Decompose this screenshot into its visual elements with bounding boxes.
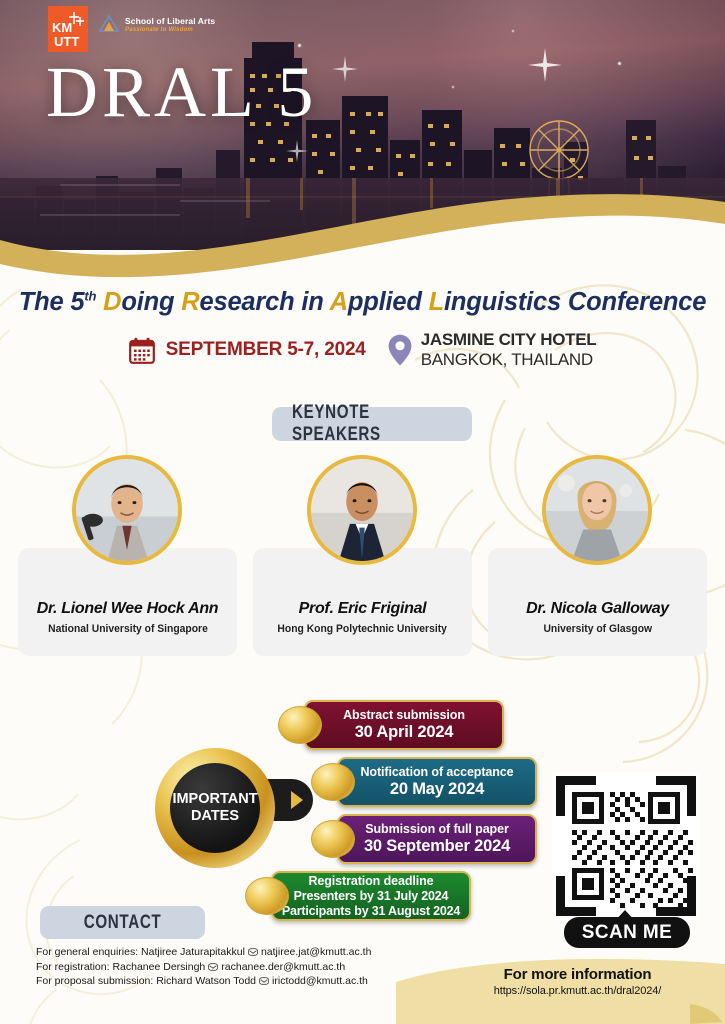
- speaker-affiliation: Hong Kong Polytechnic University: [278, 623, 447, 635]
- title-ordinal: th: [84, 289, 96, 304]
- sola-name: School of Liberal Arts: [125, 16, 215, 26]
- qr-code-block[interactable]: SCAN ME: [552, 772, 702, 920]
- sparkle: [298, 44, 301, 47]
- contact-item: For general enquiries: Natjiree Jaturapi…: [36, 945, 371, 960]
- event-acronym-title: DRAL 5: [46, 56, 317, 128]
- svg-text:KM: KM: [52, 20, 72, 35]
- contact-email[interactable]: natjiree.jat@kmutt.ac.th: [261, 945, 371, 960]
- sparkle: [452, 86, 454, 88]
- email-icon: [259, 977, 269, 985]
- speaker-name: Prof. Eric Friginal: [299, 600, 427, 618]
- svg-text:UTT: UTT: [54, 34, 79, 49]
- contact-email[interactable]: rachanee.der@kmutt.ac.th: [221, 960, 345, 975]
- date-item-label: Notification of acceptance: [361, 765, 514, 779]
- contact-role: For proposal submission: Richard Watson …: [36, 974, 256, 989]
- logo-row: KM UTT School of Liberal Arts Passionate…: [48, 6, 215, 52]
- speaker-photo-0: [76, 459, 178, 561]
- important-date-item: Submission of full paper 30 September 20…: [311, 814, 537, 864]
- title-a: A: [330, 288, 348, 316]
- contact-email[interactable]: irictodd@kmutt.ac.th: [272, 974, 368, 989]
- contact-role: For general enquiries: Natjiree Jaturapi…: [36, 945, 245, 960]
- important-date-item: Registration deadline Presenters by 31 J…: [245, 871, 471, 921]
- contact-item: For registration: Rachanee Dersingh rach…: [36, 960, 371, 975]
- title-d-rest: oing: [121, 288, 174, 316]
- date-item-gold-cap: [311, 763, 355, 801]
- date-item-value: 30 September 2024: [364, 837, 510, 856]
- speaker-portrait-2: [542, 455, 652, 565]
- conference-title: The 5th Doing Research in Applied Lingui…: [0, 288, 725, 317]
- event-venue-block: JASMINE CITY HOTEL BANGKOK, THAILAND: [388, 330, 597, 370]
- arrow-right-icon: [291, 791, 303, 809]
- title-a-rest: pplied: [348, 288, 422, 316]
- event-meta: SEPTEMBER 5-7, 2024 JASMINE CITY HOTEL B…: [0, 330, 725, 370]
- date-item-label: Registration deadline: [308, 874, 433, 888]
- title-l: L: [429, 288, 444, 316]
- kmutt-logo: KM UTT: [48, 6, 88, 52]
- speaker-name: Dr. Lionel Wee Hock Ann: [37, 600, 219, 618]
- important-date-item: Notification of acceptance 20 May 2024: [311, 757, 537, 807]
- website-url[interactable]: https://sola.pr.kmutt.ac.th/dral2024/: [430, 985, 725, 997]
- scan-me-label: SCAN ME: [582, 922, 672, 944]
- keynote-speakers-label: KEYNOTE SPEAKERS: [292, 402, 452, 446]
- important-dates-badge: IMPORTANT DATES: [155, 748, 275, 868]
- email-icon: [248, 948, 258, 956]
- venue-name: JASMINE CITY HOTEL: [421, 330, 597, 350]
- speaker-portrait-1: [307, 455, 417, 565]
- title-suffix: Conference: [568, 288, 706, 316]
- sola-triangle-icon: [98, 13, 120, 35]
- venue-city: BANGKOK, THAILAND: [421, 350, 597, 370]
- date-item-gold-cap: [311, 820, 355, 858]
- speaker-affiliation: National University of Singapore: [48, 623, 208, 635]
- sola-logo: School of Liberal Arts Passionate to Wis…: [98, 13, 215, 35]
- important-date-item: Abstract submission 30 April 2024: [278, 700, 504, 750]
- qr-code-image[interactable]: [552, 772, 700, 920]
- speaker-name: Dr. Nicola Galloway: [526, 600, 669, 618]
- email-icon: [208, 963, 218, 971]
- scan-me-badge: SCAN ME: [564, 917, 690, 948]
- sparkle: [512, 30, 514, 32]
- speaker-photo-1: [311, 459, 413, 561]
- conference-poster: KM UTT School of Liberal Arts Passionate…: [0, 0, 725, 1024]
- important-dates-label-line1: IMPORTANT: [172, 791, 257, 808]
- sparkle: [618, 62, 621, 65]
- contact-item: For proposal submission: Richard Watson …: [36, 974, 371, 989]
- qr-code-icon[interactable]: [552, 772, 700, 920]
- contact-list: For general enquiries: Natjiree Jaturapi…: [36, 945, 371, 989]
- location-pin-icon: [388, 334, 412, 366]
- date-item-value: 20 May 2024: [390, 780, 484, 799]
- date-item-label: Abstract submission: [343, 708, 465, 722]
- date-item-label: Submission of full paper: [365, 822, 508, 836]
- footer-info: For more information https://sola.pr.kmu…: [430, 966, 725, 997]
- title-l-rest: inguistics: [444, 288, 561, 316]
- speaker-photo-2: [546, 459, 648, 561]
- important-dates-label-line2: DATES: [191, 808, 239, 825]
- speaker-affiliation: University of Glasgow: [543, 623, 652, 635]
- date-item-gold-cap: [245, 877, 289, 915]
- date-item-value: Presenters by 31 July 2024: [282, 889, 460, 904]
- date-item-gold-cap: [278, 706, 322, 744]
- contact-header: CONTACT: [40, 906, 205, 939]
- event-date-block: SEPTEMBER 5-7, 2024: [129, 337, 366, 364]
- date-item-value: 30 April 2024: [355, 723, 454, 742]
- sola-tagline: Passionate to Wisdom: [125, 27, 215, 33]
- contact-label: CONTACT: [84, 912, 162, 934]
- keynote-speakers-header: KEYNOTE SPEAKERS: [272, 407, 472, 441]
- speaker-portrait-0: [72, 455, 182, 565]
- title-r: R: [181, 288, 199, 316]
- title-in: in: [301, 288, 323, 316]
- more-information-label: For more information: [430, 966, 725, 983]
- title-d: D: [103, 288, 121, 316]
- kmutt-logo-mark: KM UTT: [48, 6, 88, 52]
- calendar-icon: [129, 337, 155, 364]
- title-prefix: The 5: [19, 288, 85, 316]
- date-item-value-2: Participants by 31 August 2024: [282, 904, 460, 919]
- contact-role: For registration: Rachanee Dersingh: [36, 960, 205, 975]
- title-r-rest: esearch: [199, 288, 294, 316]
- event-date: SEPTEMBER 5-7, 2024: [166, 339, 366, 361]
- gold-wave-divider: [0, 178, 725, 298]
